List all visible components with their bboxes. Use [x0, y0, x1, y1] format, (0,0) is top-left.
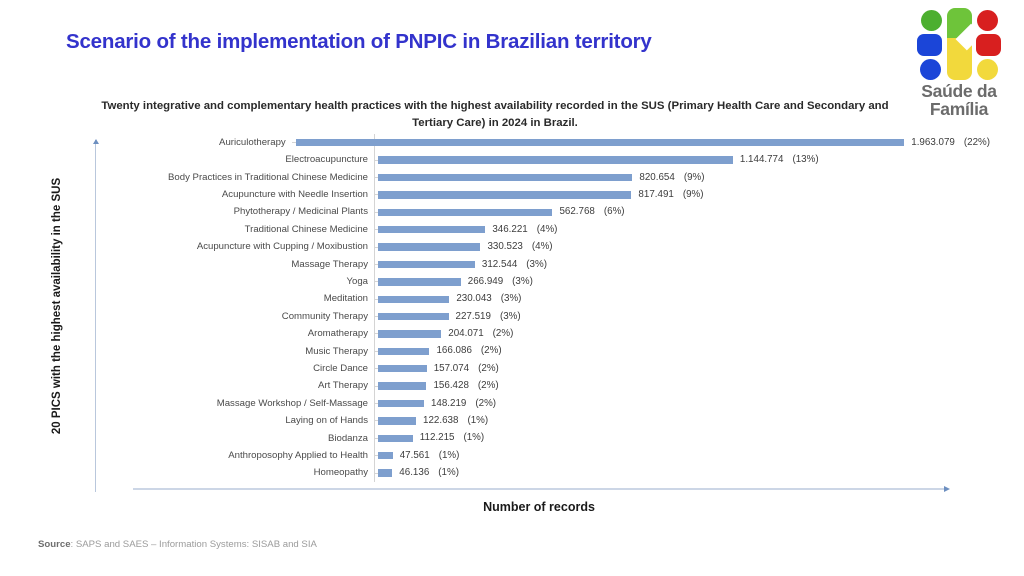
chart-bar-row: Homeopathy46.136(1%)	[130, 464, 990, 481]
chart-bar-row: Massage Workshop / Self-Massage148.219(2…	[130, 395, 990, 412]
bar-container: 148.219(2%)	[378, 395, 990, 412]
data-value-label: 227.519(3%)	[456, 312, 521, 322]
bar-container: 266.949(3%)	[378, 273, 990, 290]
bar-container: 820.654(9%)	[378, 169, 990, 186]
y-axis-title: 20 PICS with the highest availability in…	[51, 141, 63, 471]
data-value-label: 346.221(4%)	[492, 225, 557, 235]
bar-container: 1.963.079(22%)	[296, 134, 990, 151]
data-value-label: 112.215(1%)	[420, 433, 484, 443]
source-text: : SAPS and SAES – Information Systems: S…	[71, 539, 317, 550]
data-bar[interactable]	[378, 382, 426, 389]
category-label: Acupuncture with Needle Insertion	[130, 190, 374, 200]
data-value-label: 817.491(9%)	[638, 190, 703, 200]
data-value-label: 1.963.079(22%)	[911, 138, 990, 148]
data-bar[interactable]	[378, 209, 552, 216]
category-label: Auriculotherapy	[130, 138, 292, 148]
chart-bar-row: Laying on of Hands122.638(1%)	[130, 412, 990, 429]
chart-bar-row: Auriculotherapy1.963.079(22%)	[130, 134, 990, 151]
logo-green-circle-icon	[921, 10, 942, 31]
data-value-label: 230.043(3%)	[456, 294, 521, 304]
chart-title: Twenty integrative and complementary hea…	[100, 98, 890, 131]
chart-bar-row: Community Therapy227.519(3%)	[130, 308, 990, 325]
category-label: Laying on of Hands	[130, 416, 374, 426]
data-bar[interactable]	[378, 348, 429, 355]
data-bar[interactable]	[378, 469, 392, 476]
data-value-label: 204.071(2%)	[448, 329, 513, 339]
bar-container: 230.043(3%)	[378, 291, 990, 308]
logo-text: Saúde da Família	[900, 82, 1018, 119]
data-value-label: 122.638(1%)	[423, 416, 488, 426]
data-bar[interactable]	[378, 174, 632, 181]
data-value-label: 312.544(3%)	[482, 260, 547, 270]
data-value-label: 562.768(6%)	[559, 207, 624, 217]
chart-bar-row: Art Therapy156.428(2%)	[130, 377, 990, 394]
chart-bar-row: Meditation230.043(3%)	[130, 291, 990, 308]
data-value-label: 46.136(1%)	[399, 468, 459, 478]
bar-container: 330.523(4%)	[378, 238, 990, 255]
bar-container: 562.768(6%)	[378, 204, 990, 221]
data-value-label: 156.428(2%)	[433, 381, 498, 391]
data-value-label: 1.144.774(13%)	[740, 155, 819, 165]
logo-red-circle-icon	[977, 10, 998, 31]
category-label: Aromatherapy	[130, 329, 374, 339]
chart-bar-row: Acupuncture with Needle Insertion817.491…	[130, 186, 990, 203]
bar-container: 204.071(2%)	[378, 325, 990, 342]
bar-container: 156.428(2%)	[378, 377, 990, 394]
data-value-label: 157.074(2%)	[434, 364, 499, 374]
bar-container: 46.136(1%)	[378, 464, 990, 481]
data-bar[interactable]	[378, 296, 449, 303]
logo-blue-circle-icon	[920, 59, 941, 80]
logo-red-square-icon	[976, 34, 1001, 56]
bar-container: 112.215(1%)	[378, 430, 990, 447]
category-label: Biodanza	[130, 434, 374, 444]
chart-bar-row: Phytotherapy / Medicinal Plants562.768(6…	[130, 204, 990, 221]
logo-yellow-circle-icon	[977, 59, 998, 80]
x-axis-title: Number of records	[133, 500, 945, 514]
category-label: Massage Workshop / Self-Massage	[130, 399, 374, 409]
chart-bar-row: Electroacupuncture1.144.774(13%)	[130, 151, 990, 168]
bar-container: 157.074(2%)	[378, 360, 990, 377]
chart-bar-row: Body Practices in Traditional Chinese Me…	[130, 169, 990, 186]
bar-container: 47.561(1%)	[378, 447, 990, 464]
category-label: Circle Dance	[130, 364, 374, 374]
bar-container: 166.086(2%)	[378, 343, 990, 360]
saude-da-familia-logo: Saúde da Família	[900, 8, 1018, 130]
source-note: Source: SAPS and SAES – Information Syst…	[38, 539, 317, 550]
logo-text-line2: Família	[900, 100, 1018, 118]
bar-container: 346.221(4%)	[378, 221, 990, 238]
category-label: Community Therapy	[130, 312, 374, 322]
category-label: Traditional Chinese Medicine	[130, 225, 374, 235]
logo-blue-square-icon	[917, 34, 942, 56]
data-bar[interactable]	[378, 452, 393, 459]
logo-text-line1: Saúde da	[900, 82, 1018, 100]
bar-container: 312.544(3%)	[378, 256, 990, 273]
x-axis-line	[133, 488, 945, 490]
bar-container: 122.638(1%)	[378, 412, 990, 429]
data-value-label: 820.654(9%)	[639, 173, 704, 183]
bar-chart-plot: Auriculotherapy1.963.079(22%)Electroacup…	[130, 134, 990, 482]
y-axis-arrow	[95, 140, 96, 492]
data-bar[interactable]	[378, 243, 480, 250]
bar-container: 817.491(9%)	[378, 186, 990, 203]
category-label: Acupuncture with Cupping / Moxibustion	[130, 242, 374, 252]
chart-bar-row: Biodanza112.215(1%)	[130, 430, 990, 447]
source-label: Source	[38, 539, 71, 550]
data-bar[interactable]	[378, 365, 427, 372]
data-value-label: 47.561(1%)	[400, 451, 460, 461]
slide-canvas: Scenario of the implementation of PNPIC …	[0, 0, 1024, 576]
chart-bar-row: Aromatherapy204.071(2%)	[130, 325, 990, 342]
chart-bar-row: Massage Therapy312.544(3%)	[130, 256, 990, 273]
data-bar[interactable]	[378, 156, 733, 163]
chart-bar-row: Acupuncture with Cupping / Moxibustion33…	[130, 238, 990, 255]
chart-bar-row: Anthroposophy Applied to Health47.561(1%…	[130, 447, 990, 464]
page-title: Scenario of the implementation of PNPIC …	[66, 30, 652, 54]
category-label: Body Practices in Traditional Chinese Me…	[130, 173, 374, 183]
category-label: Music Therapy	[130, 347, 374, 357]
data-bar[interactable]	[378, 278, 461, 285]
category-label: Electroacupuncture	[130, 155, 374, 165]
data-bar[interactable]	[378, 226, 485, 233]
data-value-label: 330.523(4%)	[487, 242, 552, 252]
category-label: Homeopathy	[130, 468, 374, 478]
data-bar[interactable]	[378, 417, 416, 424]
category-label: Massage Therapy	[130, 260, 374, 270]
data-value-label: 148.219(2%)	[431, 399, 496, 409]
bar-container: 1.144.774(13%)	[378, 151, 990, 168]
chart-bar-row: Music Therapy166.086(2%)	[130, 343, 990, 360]
category-label: Art Therapy	[130, 381, 374, 391]
category-label: Anthroposophy Applied to Health	[130, 451, 374, 461]
category-label: Yoga	[130, 277, 374, 287]
data-bar[interactable]	[378, 313, 449, 320]
data-bar[interactable]	[296, 139, 905, 146]
data-bar[interactable]	[378, 261, 475, 268]
logo-mark-icon	[915, 8, 1003, 80]
data-bar[interactable]	[378, 400, 424, 407]
data-value-label: 266.949(3%)	[468, 277, 533, 287]
chart-bar-row: Yoga266.949(3%)	[130, 273, 990, 290]
category-label: Phytotherapy / Medicinal Plants	[130, 207, 374, 217]
data-value-label: 166.086(2%)	[436, 346, 501, 356]
bar-container: 227.519(3%)	[378, 308, 990, 325]
data-bar[interactable]	[378, 191, 631, 198]
data-bar[interactable]	[378, 330, 441, 337]
chart-bar-row: Circle Dance157.074(2%)	[130, 360, 990, 377]
chart-bar-row: Traditional Chinese Medicine346.221(4%)	[130, 221, 990, 238]
data-bar[interactable]	[378, 435, 413, 442]
category-label: Meditation	[130, 294, 374, 304]
